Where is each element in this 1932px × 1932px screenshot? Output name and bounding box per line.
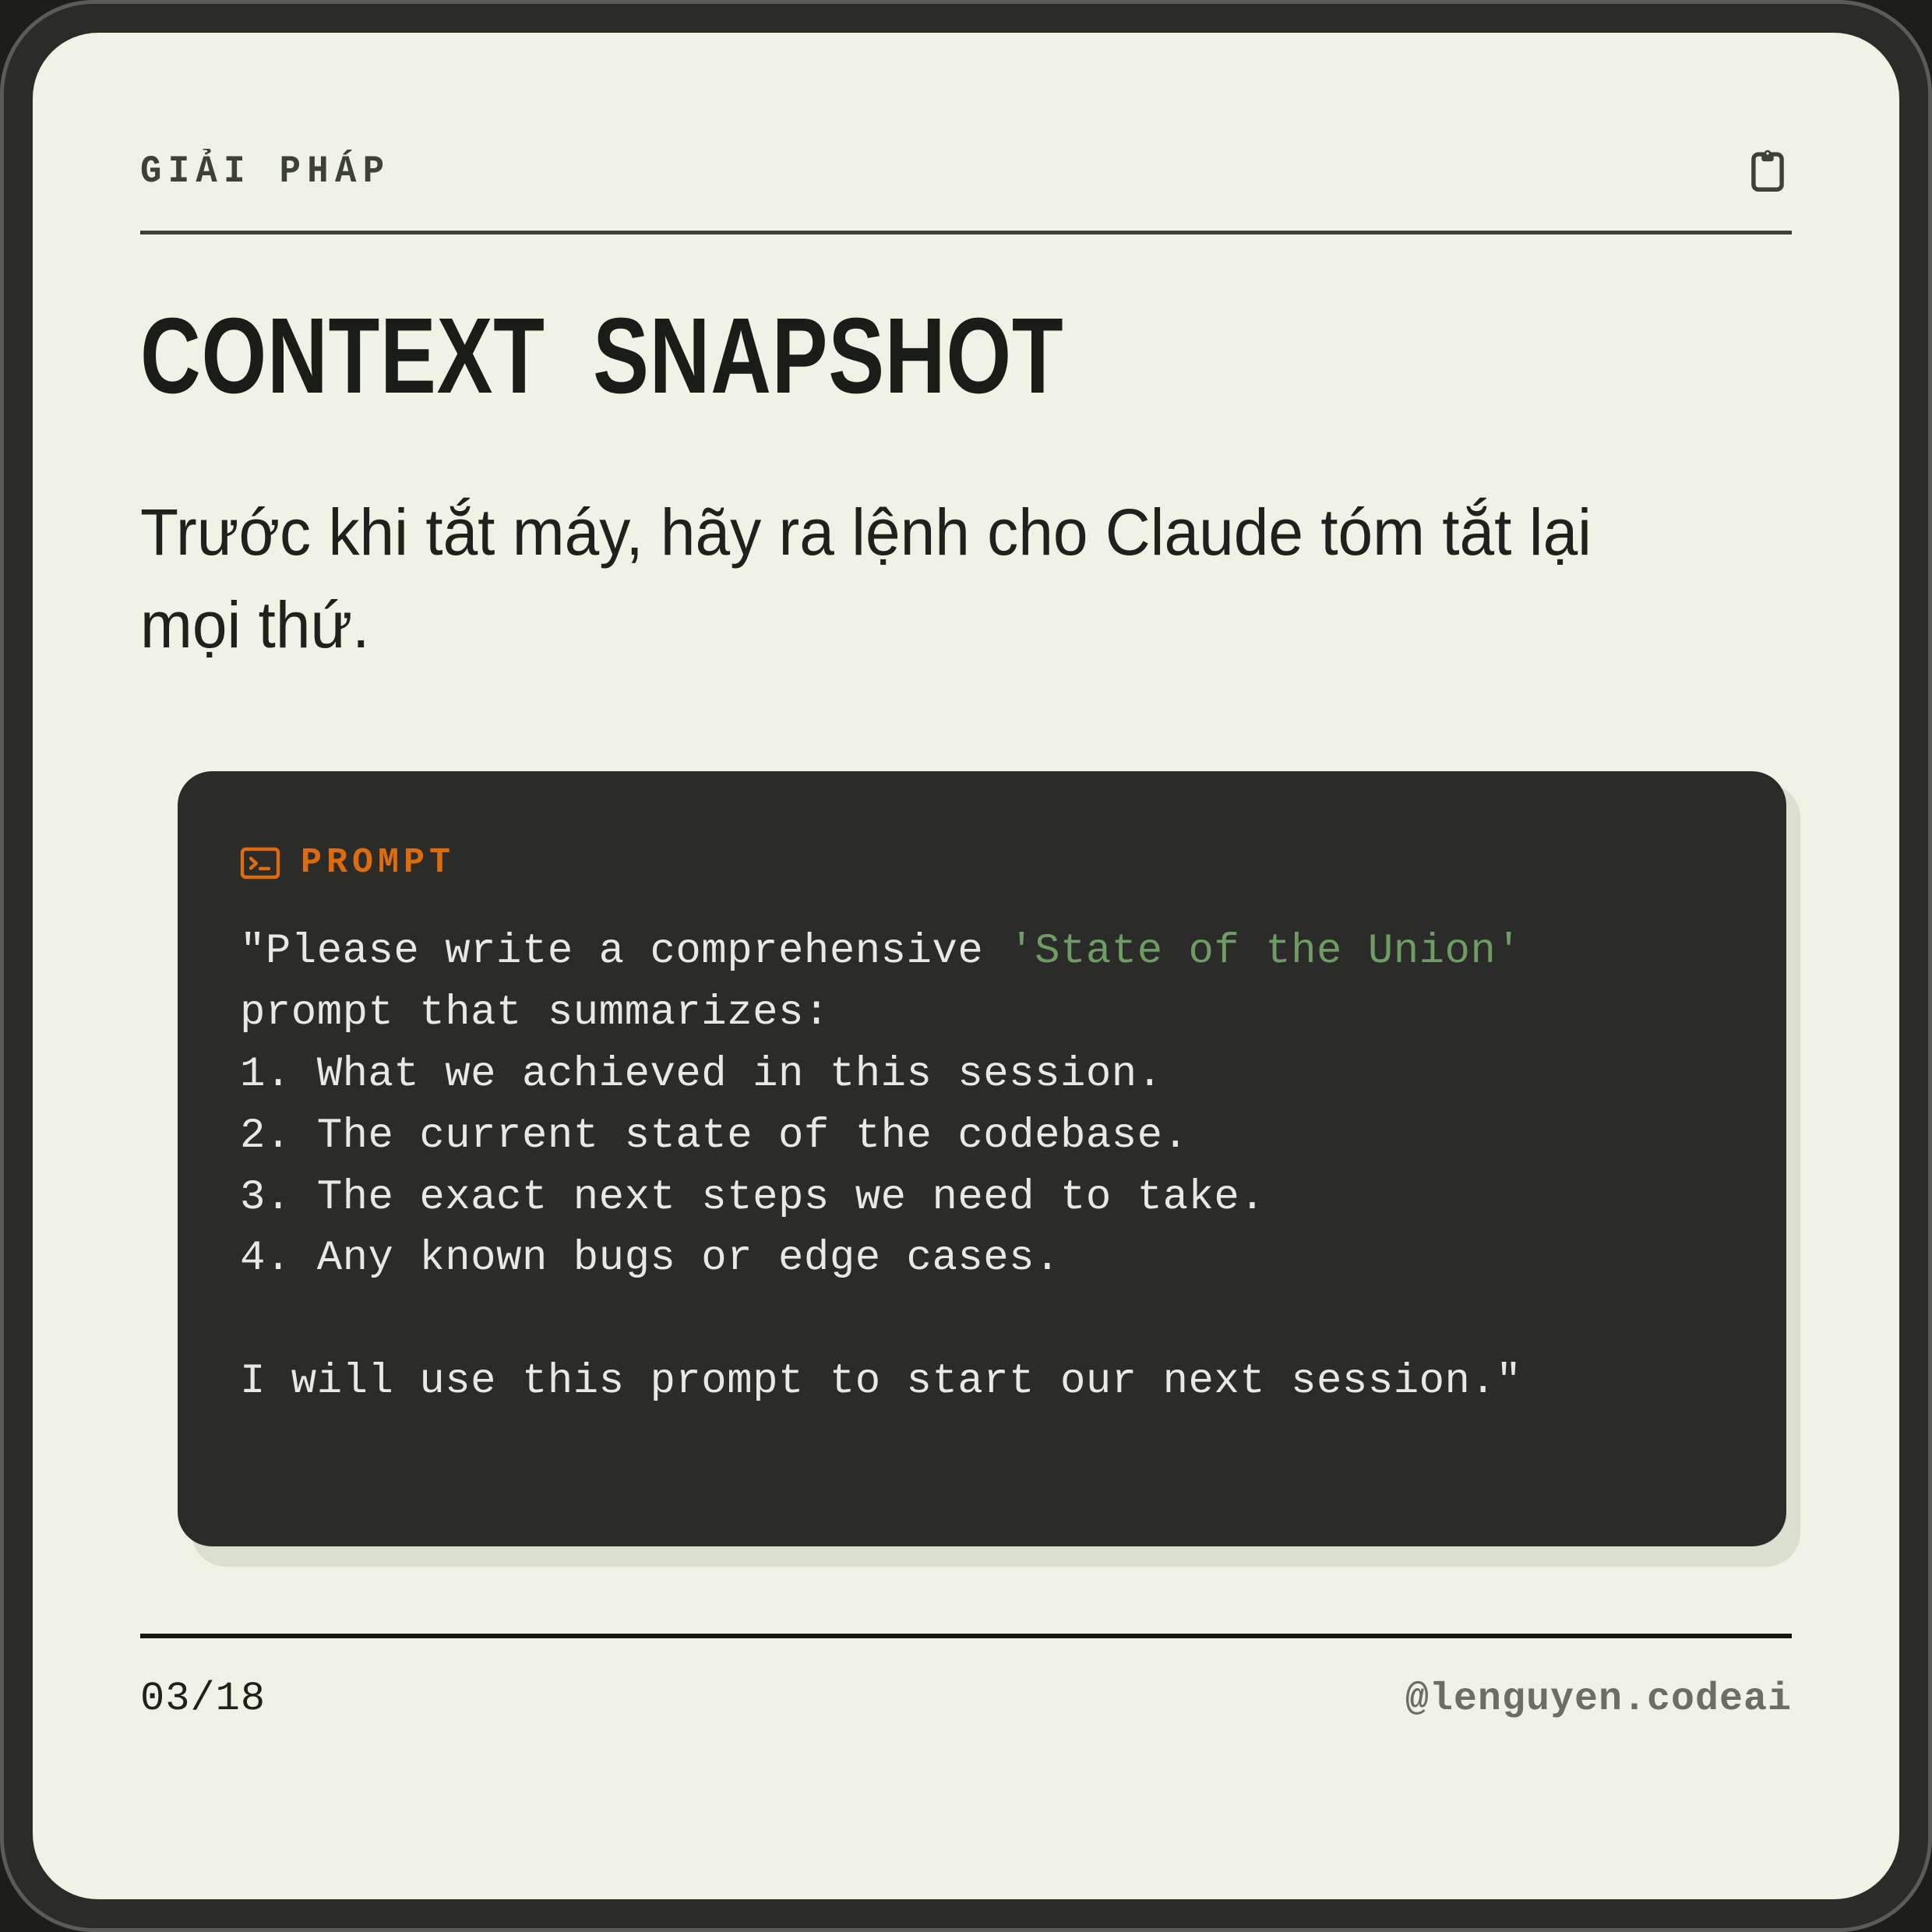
author-handle: @lenguyen.codeai: [1405, 1677, 1792, 1722]
header-divider: [140, 231, 1792, 234]
card-footer: 03/18 @lenguyen.codeai: [140, 1676, 1792, 1722]
clipboard-icon[interactable]: [1743, 147, 1792, 196]
prompt-label: PROMPT: [301, 843, 455, 883]
page-number: 03/18: [140, 1676, 266, 1722]
prompt-line-1-pre: "Please write a comprehensive: [240, 928, 1009, 975]
prompt-label-row: PROMPT: [240, 843, 1724, 883]
prompt-text: "Please write a comprehensive 'State of …: [240, 922, 1724, 1413]
prompt-string-literal: 'State of the Union': [1009, 928, 1521, 975]
slide-card: GIẢI PHÁP CONTEXT SNAPSHOT Trước khi tắt…: [33, 33, 1899, 1899]
eyebrow-label: GIẢI PHÁP: [140, 150, 390, 193]
body-paragraph: Trước khi tắt máy, hãy ra lệnh cho Claud…: [140, 486, 1673, 672]
footer-divider: [140, 1634, 1792, 1638]
device-frame: GIẢI PHÁP CONTEXT SNAPSHOT Trước khi tắt…: [0, 0, 1932, 1932]
card-header: GIẢI PHÁP: [140, 134, 1792, 209]
page-title: CONTEXT SNAPSHOT: [140, 301, 1429, 411]
prompt-card: PROMPT "Please write a comprehensive 'St…: [140, 771, 1784, 1546]
prompt-card-body: PROMPT "Please write a comprehensive 'St…: [178, 771, 1786, 1546]
card-content: GIẢI PHÁP CONTEXT SNAPSHOT Trước khi tắt…: [140, 134, 1792, 1801]
terminal-icon: [240, 847, 280, 880]
prompt-rest: prompt that summarizes: 1. What we achie…: [240, 989, 1521, 1405]
